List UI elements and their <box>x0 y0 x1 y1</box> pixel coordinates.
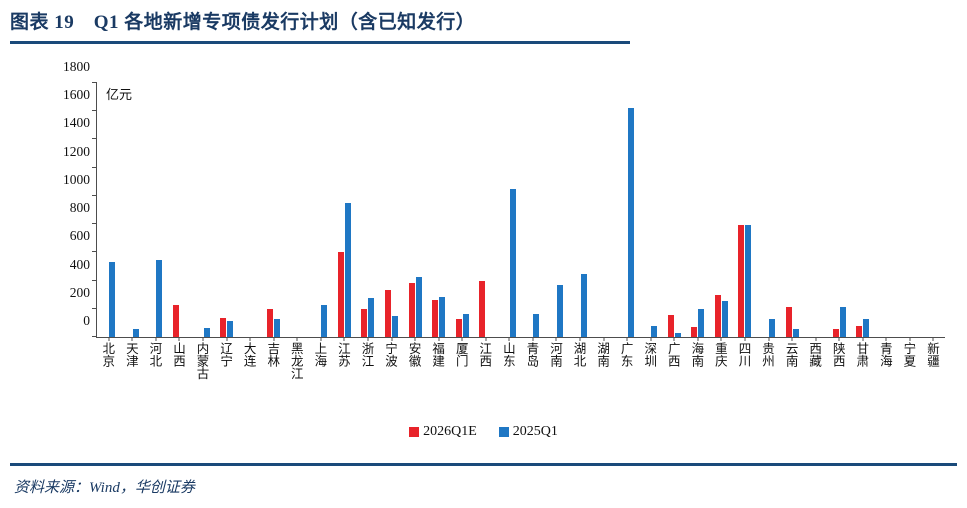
y-axis-tick-label: 1800 <box>63 59 97 75</box>
bar-2026Q1E <box>220 318 226 337</box>
bar-group <box>521 83 545 337</box>
bar-2025Q1 <box>416 277 422 337</box>
x-axis-tick-mark <box>391 337 392 341</box>
bar-2026Q1E <box>856 326 862 337</box>
x-axis-tick-mark <box>438 337 439 341</box>
bar-chart: 亿元 020040060080010001200140016001800 北京天… <box>10 50 957 450</box>
bar-2025Q1 <box>204 328 210 337</box>
x-axis-tick-mark <box>580 337 581 341</box>
x-axis-tick-mark <box>155 337 156 341</box>
bar-group <box>333 83 357 337</box>
footer-divider <box>10 463 957 466</box>
x-axis-tick-mark <box>415 337 416 341</box>
bar-2026Q1E <box>338 252 344 337</box>
x-axis-tick-mark <box>532 337 533 341</box>
legend-label: 2026Q1E <box>423 424 477 440</box>
bar-2026Q1E <box>715 295 721 337</box>
bar-group <box>403 83 427 337</box>
bar-group <box>663 83 687 337</box>
bar-group <box>121 83 145 337</box>
bar-2025Q1 <box>581 274 587 337</box>
x-axis-tick-mark <box>509 337 510 341</box>
x-axis-label-text: 安徽 <box>408 342 421 367</box>
bar-group <box>168 83 192 337</box>
bar-2025Q1 <box>392 316 398 337</box>
x-axis-label: 陕西 <box>826 342 850 418</box>
legend-item[interactable]: 2025Q1 <box>499 424 558 440</box>
plot-area: 020040060080010001200140016001800 <box>96 83 945 338</box>
x-axis-label: 山东 <box>497 342 521 418</box>
bar-group <box>757 83 781 337</box>
x-axis-label-text: 云南 <box>785 342 798 367</box>
x-axis-tick-mark <box>179 337 180 341</box>
bar-2025Q1 <box>274 319 280 337</box>
bar-group <box>686 83 710 337</box>
bar-group <box>615 83 639 337</box>
bar-group <box>286 83 310 337</box>
x-axis-label: 辽宁 <box>214 342 238 418</box>
legend-label: 2025Q1 <box>513 424 558 440</box>
bar-group <box>922 83 946 337</box>
x-axis-tick-mark <box>485 337 486 341</box>
y-axis-tick-label: 1400 <box>63 115 97 131</box>
x-axis-label-text: 四川 <box>737 342 750 367</box>
bar-2025Q1 <box>227 321 233 337</box>
x-axis-tick-mark <box>556 337 557 341</box>
x-axis-labels: 北京天津河北山西内蒙古辽宁大连吉林黑龙江上海江苏浙江宁波安徽福建厦门江西山东青岛… <box>96 342 944 418</box>
x-axis-label-text: 山西 <box>172 342 185 367</box>
chart-legend: 2026Q1E2025Q1 <box>10 424 957 440</box>
x-axis-label-text: 辽宁 <box>219 342 232 367</box>
x-axis-label: 青海 <box>874 342 898 418</box>
bar-group <box>356 83 380 337</box>
bar-group <box>450 83 474 337</box>
x-axis-tick-mark <box>367 337 368 341</box>
x-axis-label-text: 天津 <box>125 342 138 367</box>
bar-2025Q1 <box>156 260 162 337</box>
x-axis-label: 贵州 <box>756 342 780 418</box>
x-axis-tick-mark <box>909 337 910 341</box>
x-axis-label: 安徽 <box>402 342 426 418</box>
bar-group <box>898 83 922 337</box>
x-axis-tick-mark <box>108 337 109 341</box>
x-axis-label: 江苏 <box>332 342 356 418</box>
bar-series-group <box>97 83 945 337</box>
x-axis-tick-mark <box>273 337 274 341</box>
x-axis-label: 河南 <box>544 342 568 418</box>
bar-2025Q1 <box>533 314 539 337</box>
x-axis-label-text: 贵州 <box>761 342 774 367</box>
x-axis-tick-mark <box>203 337 204 341</box>
x-axis-label: 甘肃 <box>850 342 874 418</box>
legend-item[interactable]: 2026Q1E <box>409 424 477 440</box>
x-axis-label: 湖南 <box>591 342 615 418</box>
x-axis-label: 北京 <box>96 342 120 418</box>
x-axis-label: 河北 <box>143 342 167 418</box>
bar-group <box>498 83 522 337</box>
bar-2025Q1 <box>133 329 139 337</box>
bar-group <box>380 83 404 337</box>
legend-swatch <box>499 427 509 437</box>
bar-group <box>309 83 333 337</box>
x-axis-label-text: 黑龙江 <box>290 342 303 380</box>
bar-2026Q1E <box>479 281 485 337</box>
bar-2026Q1E <box>173 305 179 337</box>
bar-group <box>427 83 451 337</box>
bar-group <box>191 83 215 337</box>
bar-2025Q1 <box>109 262 115 337</box>
x-axis-label: 西藏 <box>803 342 827 418</box>
x-axis-tick-mark <box>320 337 321 341</box>
x-axis-tick-mark <box>697 337 698 341</box>
bar-group <box>592 83 616 337</box>
x-axis-label-text: 海南 <box>690 342 703 367</box>
y-axis-tick-label: 200 <box>70 285 97 301</box>
x-axis-tick-mark <box>344 337 345 341</box>
x-axis-label: 黑龙江 <box>285 342 309 418</box>
x-axis-label-text: 河南 <box>549 342 562 367</box>
source-note: 资料来源：Wind，华创证券 <box>14 476 195 497</box>
x-axis-label: 广西 <box>662 342 686 418</box>
x-axis-label-text: 湖北 <box>573 342 586 367</box>
bar-2025Q1 <box>345 203 351 337</box>
x-axis-tick-mark <box>674 337 675 341</box>
y-axis-tick-label: 0 <box>83 313 97 329</box>
x-axis-label-text: 新疆 <box>926 342 939 367</box>
x-axis-label-text: 甘肃 <box>855 342 868 367</box>
x-axis-label-text: 内蒙古 <box>196 342 209 380</box>
legend-swatch <box>409 427 419 437</box>
bar-2026Q1E <box>668 315 674 337</box>
x-axis-label: 江西 <box>473 342 497 418</box>
x-axis-tick-mark <box>839 337 840 341</box>
bar-2026Q1E <box>361 309 367 337</box>
bar-2025Q1 <box>557 285 563 337</box>
figure-header: 图表 19 Q1 各地新增专项债发行计划（含已知发行） <box>10 8 957 44</box>
x-axis-tick-mark <box>721 337 722 341</box>
x-axis-label-text: 青海 <box>879 342 892 367</box>
bar-2025Q1 <box>793 329 799 337</box>
x-axis-label-text: 重庆 <box>714 342 727 367</box>
x-axis-label: 内蒙古 <box>190 342 214 418</box>
x-axis-label-text: 广西 <box>667 342 680 367</box>
bar-2025Q1 <box>675 333 681 337</box>
x-axis-label-text: 湖南 <box>596 342 609 367</box>
x-axis-label: 新疆 <box>921 342 945 418</box>
bar-2026Q1E <box>267 309 273 337</box>
x-axis-tick-mark <box>462 337 463 341</box>
x-axis-tick-mark <box>250 337 251 341</box>
x-axis-label-text: 深圳 <box>643 342 656 367</box>
bar-2025Q1 <box>840 307 846 337</box>
x-axis-tick-mark <box>815 337 816 341</box>
bar-2026Q1E <box>833 329 839 337</box>
x-axis-label: 上海 <box>308 342 332 418</box>
bar-group <box>238 83 262 337</box>
x-axis-label-text: 江苏 <box>337 342 350 367</box>
x-axis-label: 广东 <box>614 342 638 418</box>
bar-2026Q1E <box>385 290 391 337</box>
x-axis-tick-mark <box>650 337 651 341</box>
x-axis-tick-mark <box>744 337 745 341</box>
bar-group <box>827 83 851 337</box>
x-axis-label-text: 青岛 <box>525 342 538 367</box>
x-axis-tick-mark <box>297 337 298 341</box>
bar-group <box>710 83 734 337</box>
x-axis-label-text: 浙江 <box>360 342 373 367</box>
x-axis-label: 宁夏 <box>897 342 921 418</box>
x-axis-label-text: 河北 <box>148 342 161 367</box>
x-axis-tick-mark <box>933 337 934 341</box>
x-axis-label: 四川 <box>732 342 756 418</box>
x-axis-label-text: 北京 <box>101 342 114 367</box>
x-axis-tick-mark <box>886 337 887 341</box>
bar-group <box>144 83 168 337</box>
x-axis-label: 天津 <box>120 342 144 418</box>
bar-2025Q1 <box>510 189 516 337</box>
x-axis-tick-mark <box>768 337 769 341</box>
x-axis-label: 湖北 <box>567 342 591 418</box>
bar-2025Q1 <box>863 319 869 337</box>
x-axis-label: 吉林 <box>261 342 285 418</box>
bar-2026Q1E <box>432 300 438 337</box>
bar-2025Q1 <box>463 314 469 337</box>
y-axis-tick-label: 1200 <box>63 144 97 160</box>
x-axis-label-text: 陕西 <box>832 342 845 367</box>
bar-2026Q1E <box>456 319 462 337</box>
x-axis-tick-mark <box>627 337 628 341</box>
bar-2025Q1 <box>368 298 374 338</box>
x-axis-label: 厦门 <box>449 342 473 418</box>
bar-2025Q1 <box>651 326 657 337</box>
x-axis-label-text: 吉林 <box>266 342 279 367</box>
bar-group <box>545 83 569 337</box>
x-axis-tick-mark <box>862 337 863 341</box>
x-axis-label-text: 宁波 <box>384 342 397 367</box>
x-axis-label: 深圳 <box>638 342 662 418</box>
x-axis-label: 青岛 <box>520 342 544 418</box>
bar-2026Q1E <box>738 225 744 337</box>
y-axis-tick-label: 1600 <box>63 87 97 103</box>
bar-2025Q1 <box>628 108 634 337</box>
x-axis-label-text: 厦门 <box>455 342 468 367</box>
bar-group <box>733 83 757 337</box>
x-axis-label-text: 西藏 <box>808 342 821 367</box>
bar-2026Q1E <box>691 327 697 337</box>
header-divider <box>10 41 630 44</box>
bar-group <box>97 83 121 337</box>
bar-2025Q1 <box>321 305 327 337</box>
bar-group <box>262 83 286 337</box>
y-axis-tick-label: 800 <box>70 200 97 216</box>
x-axis-label-text: 宁夏 <box>902 342 915 367</box>
bar-group <box>639 83 663 337</box>
bar-2025Q1 <box>769 319 775 337</box>
x-axis-tick-mark <box>132 337 133 341</box>
bar-2025Q1 <box>698 309 704 337</box>
bar-group <box>568 83 592 337</box>
y-axis-tick-label: 600 <box>70 228 97 244</box>
x-axis-label: 山西 <box>167 342 191 418</box>
y-axis-tick-label: 1000 <box>63 172 97 188</box>
x-axis-tick-mark <box>792 337 793 341</box>
bar-group <box>875 83 899 337</box>
x-axis-label: 宁波 <box>379 342 403 418</box>
bar-2026Q1E <box>786 307 792 337</box>
x-axis-label-text: 广东 <box>620 342 633 367</box>
x-axis-label-text: 山东 <box>502 342 515 367</box>
bar-group <box>804 83 828 337</box>
y-axis-tick-label: 400 <box>70 257 97 273</box>
x-axis-label: 浙江 <box>355 342 379 418</box>
x-axis-label: 大连 <box>237 342 261 418</box>
bar-2025Q1 <box>722 301 728 337</box>
x-axis-label-text: 江西 <box>478 342 491 367</box>
bar-2026Q1E <box>409 283 415 337</box>
x-axis-label-text: 大连 <box>243 342 256 367</box>
x-axis-tick-mark <box>226 337 227 341</box>
x-axis-tick-mark <box>603 337 604 341</box>
bar-2025Q1 <box>745 225 751 337</box>
bar-group <box>215 83 239 337</box>
x-axis-label: 云南 <box>779 342 803 418</box>
x-axis-label: 福建 <box>426 342 450 418</box>
page-title: 图表 19 Q1 各地新增专项债发行计划（含已知发行） <box>10 8 957 38</box>
bar-group <box>474 83 498 337</box>
bar-group <box>780 83 804 337</box>
bar-2025Q1 <box>439 297 445 337</box>
x-axis-label: 海南 <box>685 342 709 418</box>
x-axis-label-text: 上海 <box>313 342 326 367</box>
x-axis-label-text: 福建 <box>431 342 444 367</box>
x-axis-label: 重庆 <box>709 342 733 418</box>
figure-container: 图表 19 Q1 各地新增专项债发行计划（含已知发行） 亿元 020040060… <box>0 0 967 508</box>
bar-group <box>851 83 875 337</box>
